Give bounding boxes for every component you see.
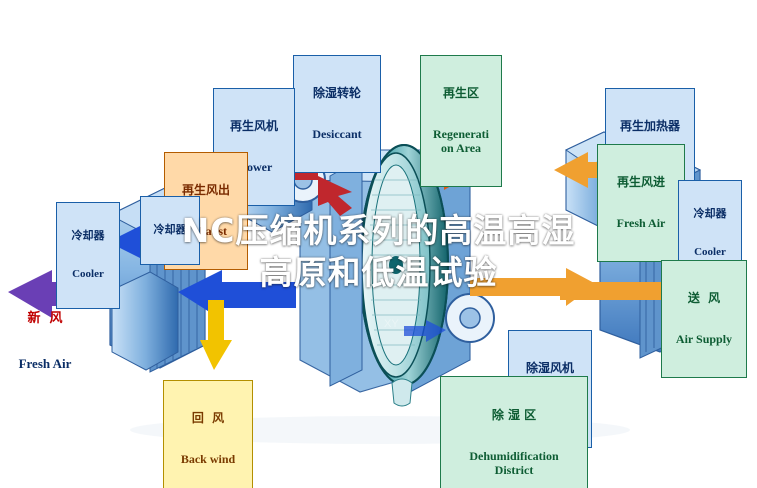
overlay-title: NC压缩机系列的高温高湿 高原和低温试验 — [0, 210, 757, 294]
wheel-watermark: XY — [384, 318, 399, 330]
label-dehumidification-district: 除 湿 区 Dehumidification District — [440, 376, 588, 488]
label-desiccant-cn: 除湿转轮 — [296, 87, 378, 101]
label-fresh-air-cn: 新 风 — [2, 312, 88, 327]
label-dehumidification-district-en: Dehumidification District — [443, 450, 585, 478]
label-regen-fresh-air-in-cn: 再生风进 — [600, 176, 682, 190]
overlay-title-line1: NC压缩机系列的高温高湿 — [0, 210, 757, 252]
label-fresh-air: 新 风 Fresh Air — [2, 282, 88, 402]
label-desiccant: 除湿转轮 Desiccant — [293, 55, 381, 173]
label-regeneration-area-cn: 再生区 — [423, 87, 499, 101]
label-back-wind-en: Back wind — [166, 453, 250, 467]
overlay-title-line2: 高原和低温试验 — [0, 252, 757, 294]
label-regen-blower-cn: 再生风机 — [216, 120, 292, 134]
label-regen-heater-cn: 再生加热器 — [608, 120, 692, 134]
diagram-canvas: 除湿转轮 Desiccant 再生区 Regenerati on Area 再生… — [0, 0, 757, 488]
label-desiccant-en: Desiccant — [296, 128, 378, 142]
label-dehum-blower-cn: 除湿风机 — [511, 362, 589, 376]
label-regeneration-area: 再生区 Regenerati on Area — [420, 55, 502, 187]
label-fresh-air-en: Fresh Air — [2, 357, 88, 372]
label-back-wind-cn: 回 风 — [166, 412, 250, 426]
label-air-supply-en: Air Supply — [664, 333, 744, 347]
label-dehumidification-district-cn: 除 湿 区 — [443, 409, 585, 423]
label-back-wind: 回 风 Back wind — [163, 380, 253, 488]
label-regeneration-area-en: Regenerati on Area — [423, 128, 499, 156]
